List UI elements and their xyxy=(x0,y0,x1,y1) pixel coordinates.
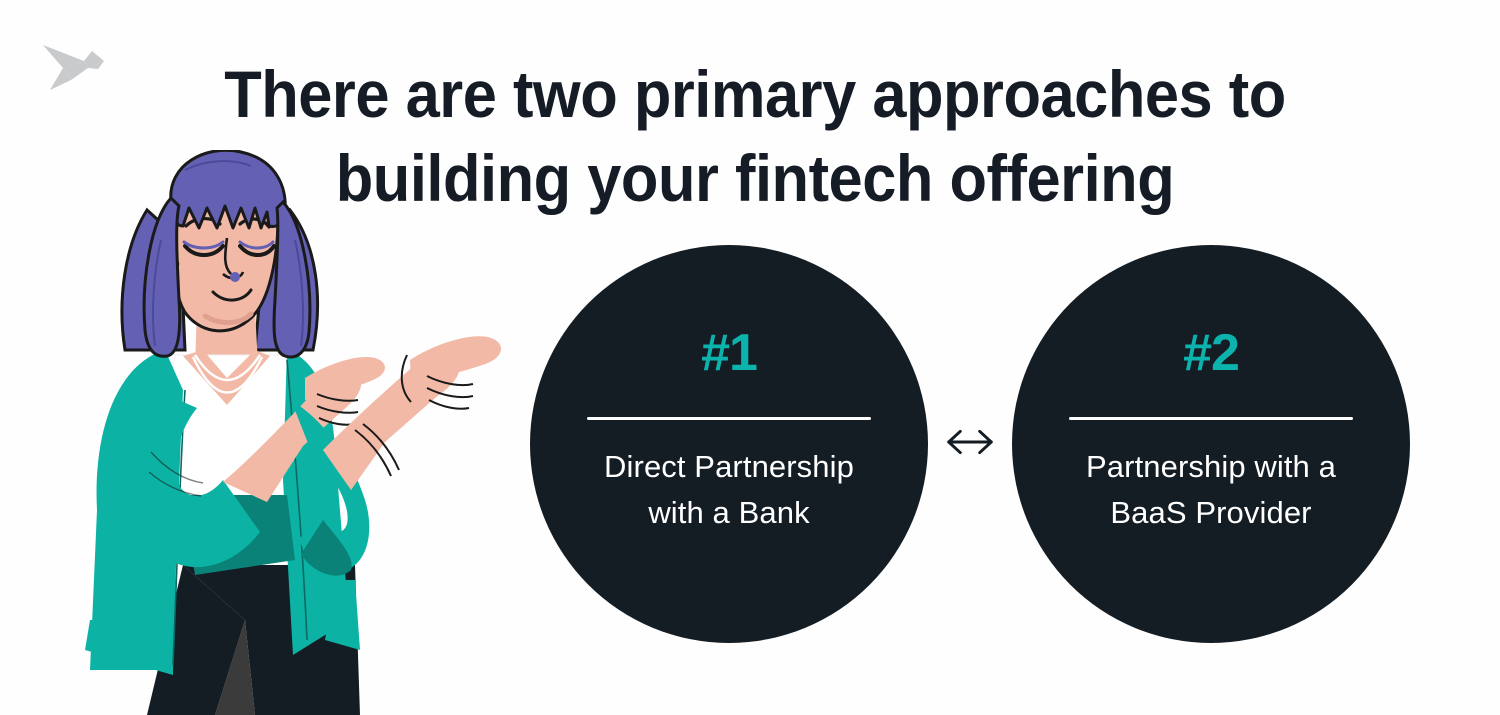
approach-label-1: Direct Partnership with a Bank xyxy=(574,444,884,536)
approach-divider-2 xyxy=(1069,417,1353,420)
slide-root: There are two primary approaches to buil… xyxy=(0,0,1500,715)
origami-bird-logo xyxy=(26,28,122,96)
approach-circle-1[interactable]: #1 Direct Partnership with a Bank xyxy=(530,245,928,643)
approach-number-1: #1 xyxy=(701,325,757,381)
approach-label-2: Partnership with a BaaS Provider xyxy=(1056,444,1366,536)
woman-pointing-right-illustration xyxy=(55,150,525,715)
approach-divider-1 xyxy=(587,417,871,420)
approach-number-2: #2 xyxy=(1183,325,1239,381)
approach-circle-2[interactable]: #2 Partnership with a BaaS Provider xyxy=(1012,245,1410,643)
page-title-line-1: There are two primary approaches to xyxy=(216,52,1295,136)
left-right-arrow-icon xyxy=(928,412,1012,472)
